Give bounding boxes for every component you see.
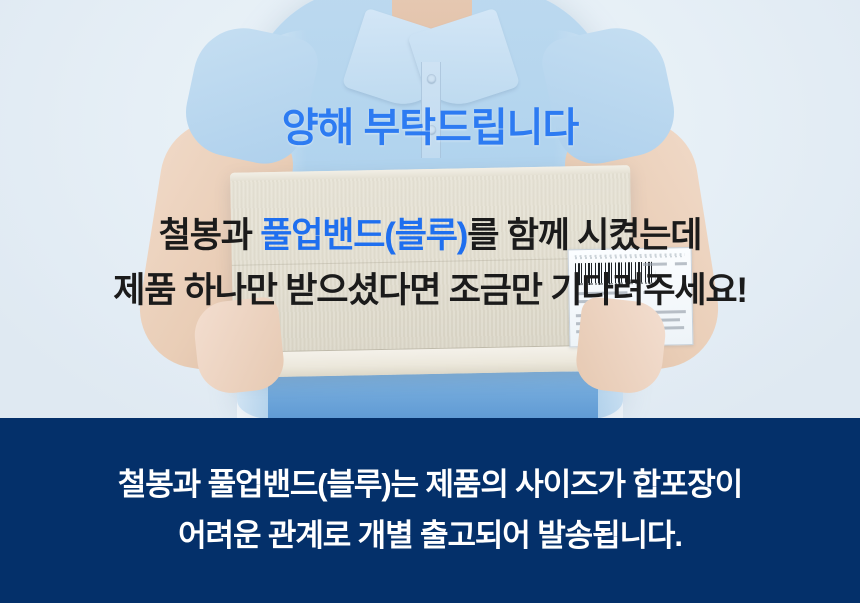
notice-banner-line-2: 어려운 관계로 개별 출고되어 발송됩니다. [178,511,682,561]
hero-body-line1-highlight: 풀업밴드(블루) [260,216,467,255]
hero-body-line-1: 철봉과 풀업밴드(블루)를 함께 시켰는데 [0,208,860,263]
notice-banner: 철봉과 풀업밴드(블루)는 제품의 사이즈가 합포장이 어려운 관계로 개별 출… [0,418,860,603]
hero-body-line-2: 제품 하나만 받으셨다면 조금만 기다려주세요! [0,263,860,318]
hero-photo: 양해 부탁드립니다 철봉과 풀업밴드(블루)를 함께 시켰는데 제품 하나만 받… [0,0,860,418]
hero-body-line1-post: 를 함께 시켰는데 [467,216,701,255]
notice-banner-line-1: 철봉과 풀업밴드(블루)는 제품의 사이즈가 합포장이 [118,460,742,510]
hero-headline: 양해 부탁드립니다 [0,95,860,153]
shirt-lower-section [268,372,598,418]
shirt-button-top [427,74,436,83]
hero-body-line1-pre: 철봉과 [159,216,261,255]
notice-page: 양해 부탁드립니다 철봉과 풀업밴드(블루)를 함께 시켰는데 제품 하나만 받… [0,0,860,603]
hero-body-text: 철봉과 풀업밴드(블루)를 함께 시켰는데 제품 하나만 받으셨다면 조금만 기… [0,208,860,319]
